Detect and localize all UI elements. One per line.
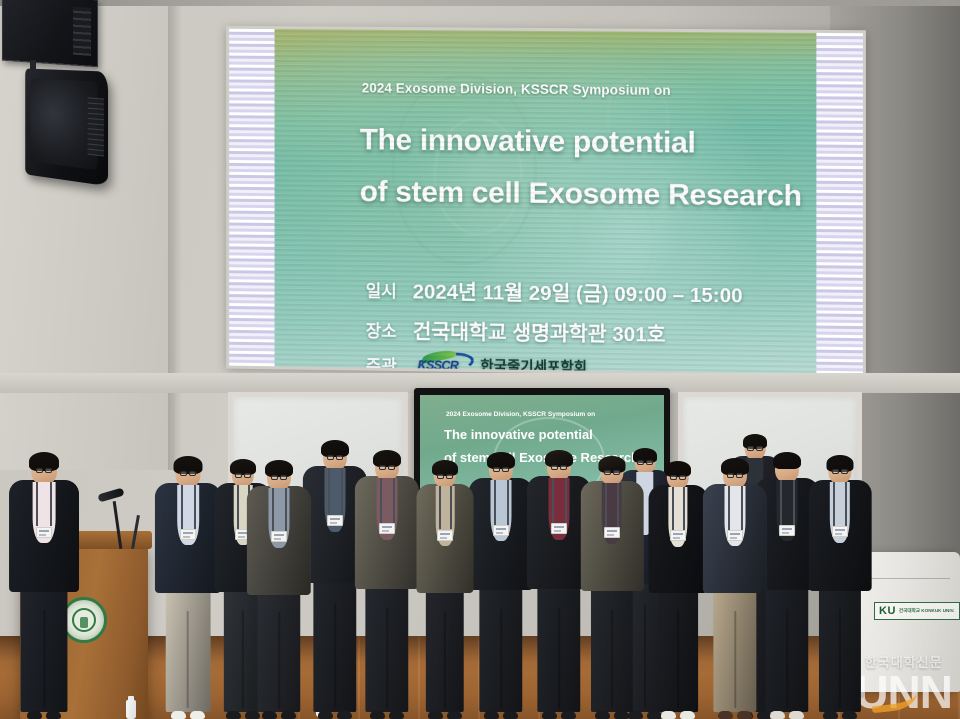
name-badge (437, 530, 453, 541)
projection-screen: 2024 Exosome Division, KSSCR Symposium o… (226, 26, 866, 378)
ceiling-speaker-icon (2, 0, 98, 67)
lanyard (741, 486, 743, 530)
name-badge (271, 531, 287, 542)
slide-date-value: 2024년 11월 29일 (금) 09:00 – 15:00 (413, 274, 743, 308)
eyeglasses-icon (727, 473, 743, 478)
slide-date-row: 일시 2024년 11월 29일 (금) 09:00 – 15:00 (366, 274, 743, 309)
ceiling-edge (0, 0, 960, 6)
trousers (479, 586, 522, 712)
photo-scene: 2024 Exosome Division, KSSCR Symposium o… (0, 0, 960, 719)
shoe (46, 711, 61, 719)
trousers (365, 585, 408, 712)
name-badge (551, 523, 567, 534)
lanyard (272, 488, 274, 532)
slide-place-value: 건국대학교 생명과학관 301호 (413, 314, 666, 347)
water-bottle (126, 700, 136, 719)
name-badge (327, 515, 343, 526)
eyeglasses-icon (832, 469, 848, 474)
lanyard (494, 480, 496, 525)
lanyard (780, 480, 782, 525)
shoe (370, 711, 385, 719)
ksscr-society-name: 한국줄기세포학회 (480, 355, 587, 374)
lanyard (285, 488, 287, 532)
shoe (737, 711, 752, 719)
monitor-title-line-1: The innovative potential (444, 427, 593, 442)
name-badge (779, 525, 795, 536)
eyeglasses-icon (493, 467, 509, 472)
wall-speaker-icon (25, 68, 108, 186)
trousers (166, 589, 211, 712)
slide-place-label: 장소 (366, 316, 397, 341)
attendee-p4 (244, 460, 314, 719)
projection-screen-surface: 2024 Exosome Division, KSSCR Symposium o… (229, 29, 863, 375)
ksscr-mark-icon: KSSCR (415, 355, 477, 374)
lanyard (450, 486, 452, 530)
screen-left-stripe-artifact (229, 29, 274, 367)
name-badge (670, 530, 686, 541)
trousers (591, 587, 633, 712)
attendee-p6 (352, 450, 422, 719)
ku-logo: KU 건국대학교 KONKUK UNIV. (874, 602, 960, 620)
shoe (542, 711, 557, 719)
shoe (770, 711, 785, 719)
lanyard (552, 478, 554, 523)
shoe (262, 711, 277, 719)
lanyard (237, 485, 239, 529)
name-badge (832, 526, 848, 537)
lanyard (341, 468, 343, 515)
speaker-grille (88, 97, 104, 156)
eyeglasses-icon (747, 446, 763, 451)
shoe (447, 711, 462, 719)
eyeglasses-icon (271, 475, 287, 480)
name-badge (180, 529, 196, 540)
lanyard (328, 468, 330, 515)
presentation-slide: 2024 Exosome Division, KSSCR Symposium o… (275, 29, 817, 374)
lanyard (672, 487, 674, 530)
lanyard (50, 482, 52, 527)
trousers (713, 589, 756, 712)
attendee-p1 (6, 452, 82, 719)
shoe (27, 711, 42, 719)
shoe (680, 711, 695, 719)
lanyard (565, 478, 567, 523)
shoe (389, 711, 404, 719)
lanyard (605, 483, 607, 527)
shoe (171, 711, 186, 719)
eyeglasses-icon (379, 465, 395, 470)
slide-kicker: 2024 Exosome Division, KSSCR Symposium o… (362, 81, 671, 99)
shoe (226, 711, 241, 719)
eyeglasses-icon (551, 465, 567, 470)
name-badge (493, 525, 509, 536)
shoe (281, 711, 296, 719)
lanyard (683, 487, 685, 530)
lanyard (845, 482, 847, 526)
lanyard (439, 486, 441, 530)
lanyard (181, 485, 183, 529)
shoe (190, 711, 205, 719)
eyeglasses-icon (180, 471, 196, 476)
shoe (318, 711, 333, 719)
attendee-p13 (700, 458, 770, 719)
shoe (842, 711, 857, 719)
slide-host-row: 주관 KSSCR 한국줄기세포학회 (366, 352, 589, 374)
attendee-p10 (578, 456, 646, 719)
shoe (428, 711, 443, 719)
eyeglasses-icon (36, 468, 52, 473)
lanyard (617, 483, 619, 527)
trousers (426, 589, 464, 712)
lanyard (793, 480, 795, 525)
trousers (765, 586, 808, 712)
ksscr-mark-text: KSSCR (418, 358, 459, 373)
lanyard (393, 478, 395, 523)
lanyard (380, 478, 382, 523)
ku-logo-text: KU (879, 605, 896, 617)
shoe (718, 711, 733, 719)
trousers (658, 589, 698, 712)
slide-title-line-2: of stem cell Exosome Research (360, 175, 802, 214)
trousers (20, 588, 67, 712)
shoe (823, 711, 838, 719)
shoe (484, 711, 499, 719)
screen-right-stripe-artifact (816, 33, 863, 374)
lanyard (507, 480, 509, 525)
shoe (789, 711, 804, 719)
slide-title-line-1: The innovative potential (360, 123, 696, 160)
attendee-p7 (414, 460, 476, 719)
trousers (537, 585, 580, 712)
slide-date-label: 일시 (366, 276, 397, 301)
trousers (257, 591, 300, 712)
slide-text-block: 2024 Exosome Division, KSSCR Symposium o… (275, 29, 817, 374)
name-badge (36, 527, 52, 538)
name-badge (727, 530, 743, 541)
attendee-p16 (806, 455, 874, 719)
monitor-kicker: 2024 Exosome Division, KSSCR Symposium o… (446, 411, 595, 418)
shoe (561, 711, 576, 719)
slide-place-row: 장소 건국대학교 생명과학관 301호 (366, 314, 666, 348)
shoe (614, 711, 629, 719)
eyeglasses-icon (604, 470, 620, 475)
eyeglasses-icon (670, 475, 686, 480)
shoe (661, 711, 676, 719)
slide-host-label: 주관 (366, 352, 397, 374)
lanyard (36, 482, 38, 527)
name-badge (604, 527, 620, 538)
trousers (313, 579, 356, 712)
lanyard (728, 486, 730, 530)
ku-logo-subtext: 건국대학교 KONKUK UNIV. (899, 608, 955, 613)
wall-corner (168, 0, 182, 470)
hair (773, 452, 801, 469)
lanyard (194, 485, 196, 529)
shoe (595, 711, 610, 719)
trousers (819, 587, 861, 712)
shoe (337, 711, 352, 719)
lanyard (833, 482, 835, 526)
name-badge (379, 523, 395, 534)
eyeglasses-icon (437, 474, 453, 479)
ksscr-logo: KSSCR 한국줄기세포학회 (413, 353, 589, 374)
eyeglasses-icon (327, 455, 343, 460)
shoe (503, 711, 518, 719)
